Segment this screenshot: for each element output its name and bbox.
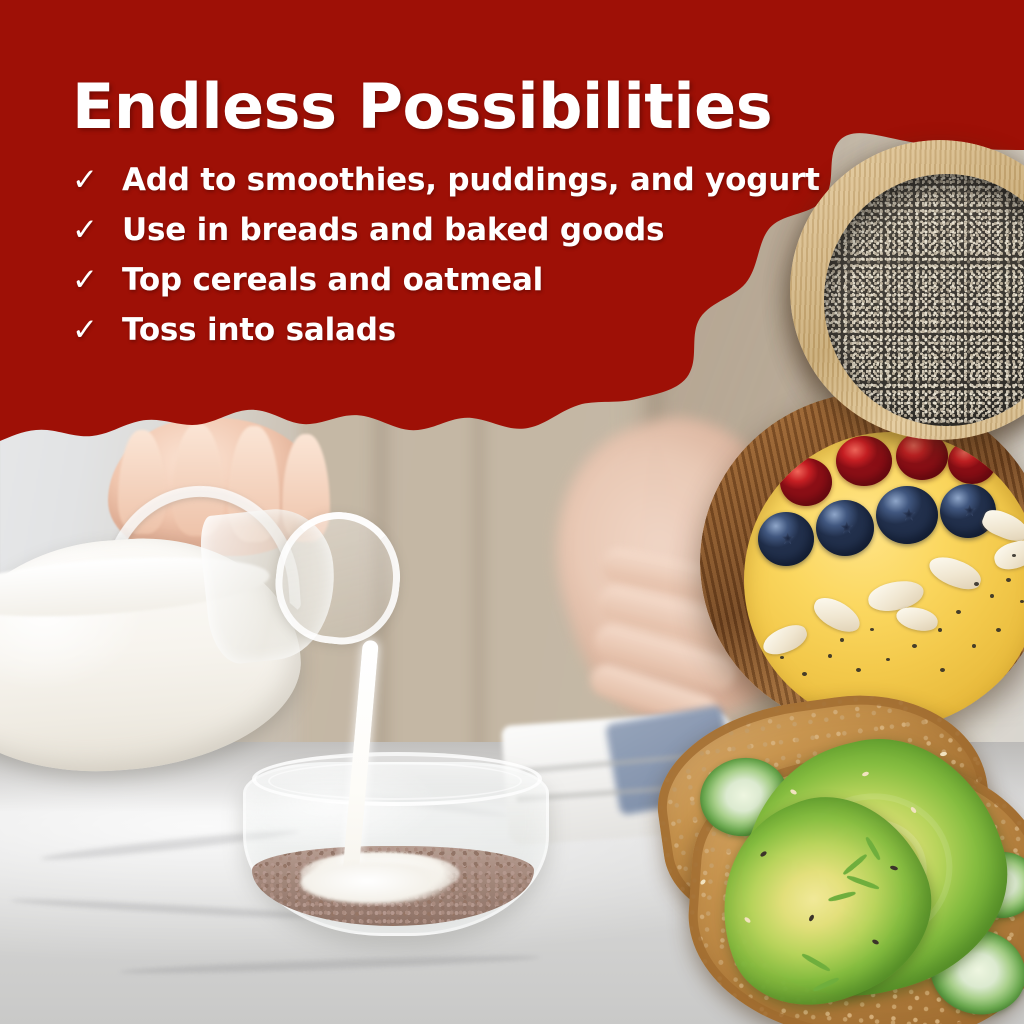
blueberry xyxy=(758,512,814,566)
coconut-flake xyxy=(894,605,939,634)
cranberry xyxy=(780,458,832,506)
chia-sprinkle xyxy=(802,672,807,676)
chia-sprinkle xyxy=(1006,578,1011,582)
cranberry xyxy=(836,436,892,486)
chia-sprinkle xyxy=(1012,554,1016,557)
chia-sprinkle xyxy=(972,644,976,648)
chia-sprinkle xyxy=(886,658,890,661)
product-lifestyle-photo xyxy=(0,0,1024,1024)
marketing-image: Endless Possibilities ✓ Add to smoothies… xyxy=(0,0,1024,1024)
coconut-flake xyxy=(925,552,984,593)
milk-splash xyxy=(300,862,450,904)
blueberry xyxy=(876,486,938,544)
blueberry xyxy=(816,500,874,556)
jar-rim-inner xyxy=(268,762,522,800)
chia-sprinkle xyxy=(870,628,874,631)
chia-sprinkle xyxy=(780,656,784,659)
cranberry xyxy=(948,440,996,484)
chia-sprinkle xyxy=(940,668,945,672)
chia-sprinkle xyxy=(828,654,832,658)
coconut-flake xyxy=(992,537,1024,573)
chia-sprinkle xyxy=(938,628,942,632)
chia-sprinkle xyxy=(956,610,961,614)
chia-sprinkle xyxy=(974,582,979,586)
mango-smoothie xyxy=(744,432,1024,728)
coconut-flake xyxy=(809,592,865,637)
chia-sprinkle xyxy=(990,594,994,598)
chia-sprinkle xyxy=(840,638,844,642)
chia-sprinkle xyxy=(912,644,917,648)
chia-sprinkle xyxy=(1020,600,1024,603)
chia-sprinkle xyxy=(996,628,1001,632)
coconut-flake xyxy=(759,621,810,659)
chia-sprinkle xyxy=(856,668,861,672)
apron-fold xyxy=(470,0,488,760)
